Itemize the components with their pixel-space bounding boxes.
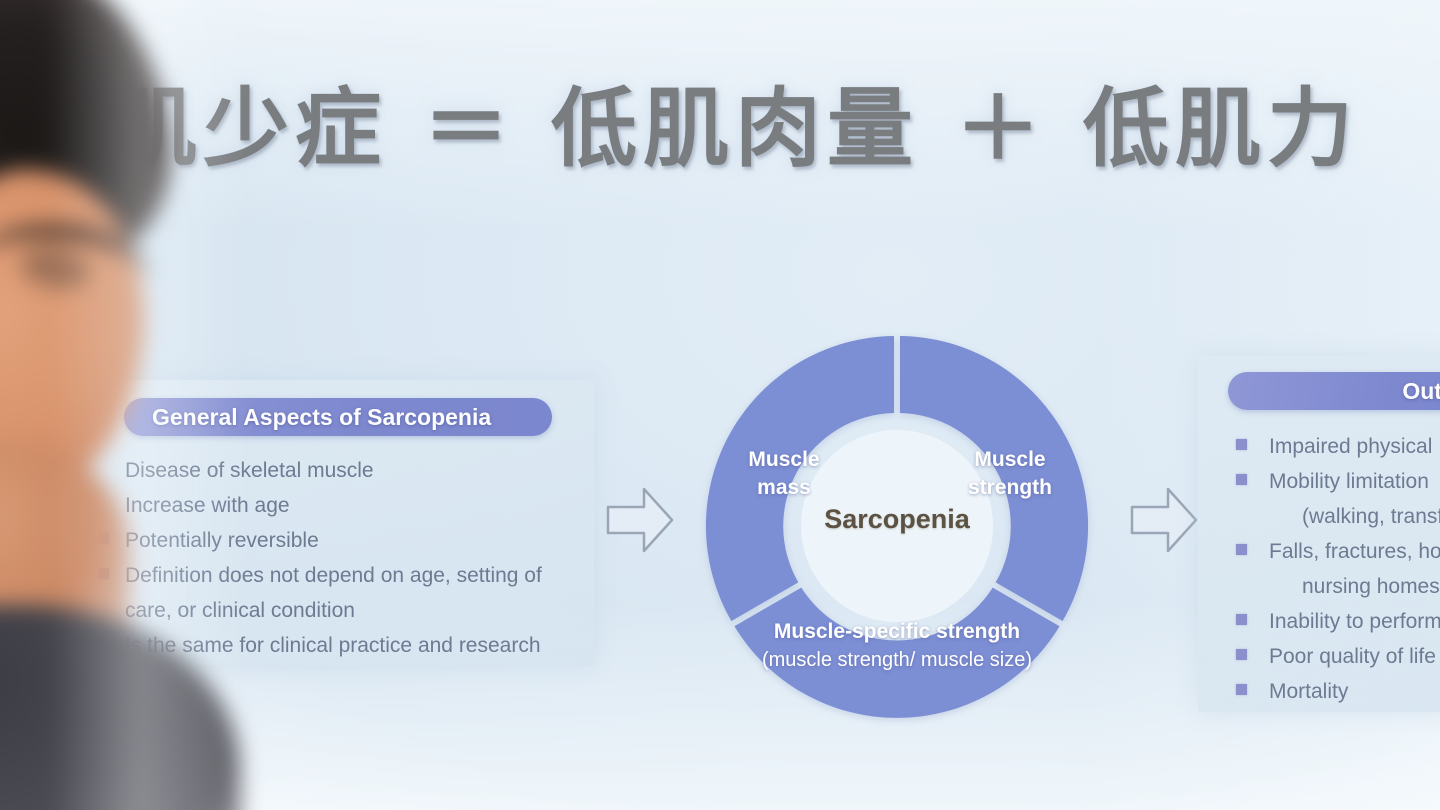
bullet-square-icon [98, 533, 109, 544]
bullet-square-icon [98, 568, 109, 579]
general-aspects-bullet-label: Is the same for clinical practice and re… [109, 629, 541, 662]
bullet-square-icon [1236, 544, 1247, 555]
arrow-right-icon-right [1128, 481, 1200, 559]
bullet-square-icon [1236, 684, 1247, 695]
general-aspects-bullet-item: Is the same for clinical practice and re… [98, 629, 588, 662]
general-aspects-bullet-label: care, or clinical condition [109, 594, 355, 627]
panel-general-aspects: General Aspects of Sarcopenia Disease of… [82, 380, 594, 665]
general-aspects-bullet-label: Definition does not depend on age, setti… [109, 559, 542, 592]
panel-outcomes: Outcome Impaired physicalMobility limita… [1198, 356, 1440, 712]
outcomes-bullet-item: Falls, fractures, ho [1236, 535, 1440, 568]
general-aspects-bullet-item: Increase with age [98, 489, 588, 522]
panel-outcomes-header: Outcome [1228, 372, 1440, 410]
person-glasses-lens [17, 242, 93, 294]
outcomes-bullet-label: Poor quality of life [1247, 640, 1436, 673]
donut-svg [677, 306, 1117, 746]
general-aspects-bullet-item: Disease of skeletal muscle [98, 454, 588, 487]
outcomes-bullet-label: nursing homes [1247, 570, 1440, 603]
outcomes-bullet-item: nursing homes [1236, 570, 1440, 603]
donut-center-hole [801, 430, 993, 622]
general-aspects-bullet-item: care, or clinical condition [98, 594, 588, 627]
outcomes-bullet-label: Mobility limitation [1247, 465, 1429, 498]
outcomes-bullet-list: Impaired physicalMobility limitation(wal… [1236, 430, 1440, 710]
outcomes-bullet-item: Inability to perform [1236, 605, 1440, 638]
panel-general-aspects-title: General Aspects of Sarcopenia [152, 404, 491, 431]
outcomes-bullet-label: (walking, transfer [1247, 500, 1440, 533]
general-aspects-bullet-item: Definition does not depend on age, setti… [98, 559, 588, 592]
bullet-square-icon [1236, 649, 1247, 660]
outcomes-bullet-label: Impaired physical [1247, 430, 1432, 463]
bullet-square-icon [1236, 614, 1247, 625]
bullet-square-icon [1236, 439, 1247, 450]
general-aspects-bullet-label: Increase with age [109, 489, 290, 522]
outcomes-bullet-label: Mortality [1247, 675, 1348, 708]
panel-general-aspects-header: General Aspects of Sarcopenia [124, 398, 552, 436]
general-aspects-bullet-item: Potentially reversible [98, 524, 588, 557]
outcomes-bullet-item: Mortality [1236, 675, 1440, 708]
bullet-square-icon [1236, 474, 1247, 485]
outcomes-bullet-item: (walking, transfer [1236, 500, 1440, 533]
outcomes-bullet-label: Inability to perform [1247, 605, 1440, 638]
general-aspects-bullet-label: Potentially reversible [109, 524, 319, 557]
outcomes-bullet-item: Impaired physical [1236, 430, 1440, 463]
general-aspects-bullet-list: Disease of skeletal muscleIncrease with … [98, 454, 588, 664]
outcomes-bullet-item: Poor quality of life [1236, 640, 1440, 673]
slide-title: 肌少症 ＝ 低肌肉量 ＋ 低肌力 [0, 58, 1440, 183]
panel-outcomes-title: Outcome [1402, 378, 1440, 405]
arrow-right-icon-left [604, 481, 676, 559]
sarcopenia-donut-chart: Muscle mass Muscle strength Muscle-speci… [677, 306, 1117, 746]
bullet-square-icon [98, 638, 109, 649]
outcomes-bullet-label: Falls, fractures, ho [1247, 535, 1440, 568]
person-glasses [0, 212, 157, 300]
presentation-slide: 肌少症 ＝ 低肌肉量 ＋ 低肌力 General Aspects of Sarc… [0, 0, 1440, 810]
general-aspects-bullet-label: Disease of skeletal muscle [109, 454, 374, 487]
outcomes-bullet-item: Mobility limitation [1236, 465, 1440, 498]
